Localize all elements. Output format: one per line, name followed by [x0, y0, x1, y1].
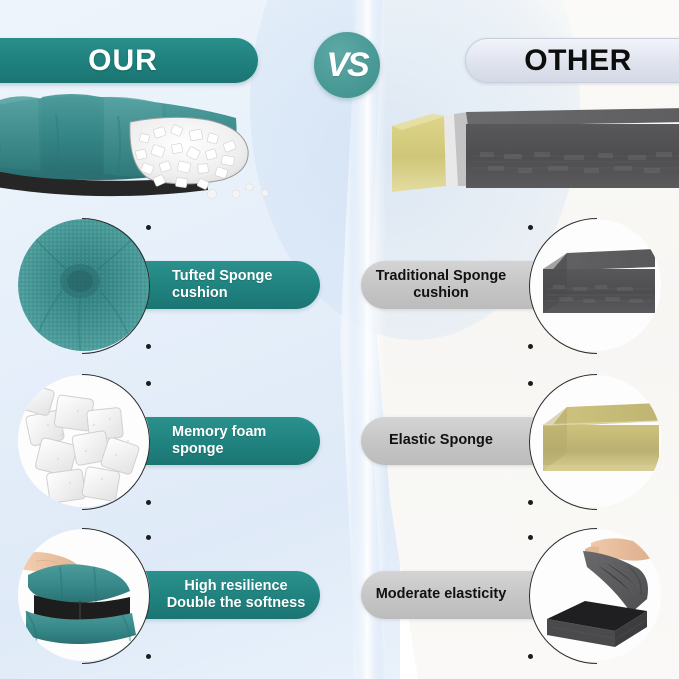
other-banner-label: OTHER [524, 44, 632, 78]
our-feature-label-2-line1: Memory foam sponge [172, 424, 308, 458]
our-feature-dot-3-bottom [146, 654, 151, 659]
other-feature-label-1: Traditional Sponge cushion [373, 268, 509, 302]
other-feature-row-2: Elastic Sponge [339, 372, 679, 512]
comparison-infographic: OUR OTHER VS [0, 0, 679, 679]
our-feature-pill-3: High resilience Double the softness [128, 571, 320, 619]
other-feature-pill-2: Elastic Sponge [361, 417, 557, 465]
other-feature-dot-1-top [528, 225, 533, 230]
hero-image-our-cushion [0, 84, 286, 204]
our-feature-pill-1: Tufted Sponge cushion [128, 261, 320, 309]
our-feature-row-3: High resilience Double the softness [0, 526, 340, 666]
our-feature-dot-1-bottom [146, 344, 151, 349]
our-feature-label-1-line2: cushion [172, 285, 272, 302]
our-feature-label-1-line1: Tufted Sponge [172, 268, 272, 285]
other-banner: OTHER [465, 38, 679, 83]
other-feature-dot-3-bottom [528, 654, 533, 659]
our-feature-dot-2-top [146, 381, 151, 386]
other-feature-pill-3: Moderate elasticity [361, 571, 557, 619]
our-feature-label-1: Tufted Sponge cushion [172, 268, 272, 302]
other-feature-dot-1-bottom [528, 344, 533, 349]
our-banner: OUR [0, 38, 258, 83]
vs-badge-icon: VS [314, 32, 380, 98]
other-feature-row-3: Moderate elasticity [339, 526, 679, 666]
other-feature-dot-2-bottom [528, 500, 533, 505]
our-feature-label-2: Memory foam sponge [172, 424, 308, 458]
other-feature-label-1-line1: Traditional Sponge [373, 268, 509, 285]
our-feature-pill-2: Memory foam sponge [128, 417, 320, 465]
our-feature-label-3: High resilience Double the softness [164, 578, 308, 612]
other-feature-pill-1: Traditional Sponge cushion [361, 261, 557, 309]
our-feature-dot-2-bottom [146, 500, 151, 505]
other-feature-label-3: Moderate elasticity [373, 586, 509, 603]
other-feature-label-1-line2: cushion [373, 285, 509, 302]
other-feature-label-2: Elastic Sponge [373, 432, 509, 449]
other-feature-label-2-line1: Elastic Sponge [373, 432, 509, 449]
hero-image-other-slab [388, 100, 679, 200]
our-feature-dot-1-top [146, 225, 151, 230]
other-feature-row-1: Traditional Sponge cushion [339, 216, 679, 356]
other-feature-label-3-line1: Moderate elasticity [373, 586, 509, 603]
our-feature-row-1: Tufted Sponge cushion [0, 216, 340, 356]
vs-badge-label: VS [326, 48, 367, 82]
our-feature-label-3-line1: High resilience [164, 578, 308, 595]
other-feature-dot-3-top [528, 535, 533, 540]
our-feature-row-2: Memory foam sponge [0, 372, 340, 512]
our-banner-label: OUR [88, 44, 158, 78]
our-feature-dot-3-top [146, 535, 151, 540]
our-feature-label-3-line2: Double the softness [164, 595, 308, 612]
other-feature-dot-2-top [528, 381, 533, 386]
